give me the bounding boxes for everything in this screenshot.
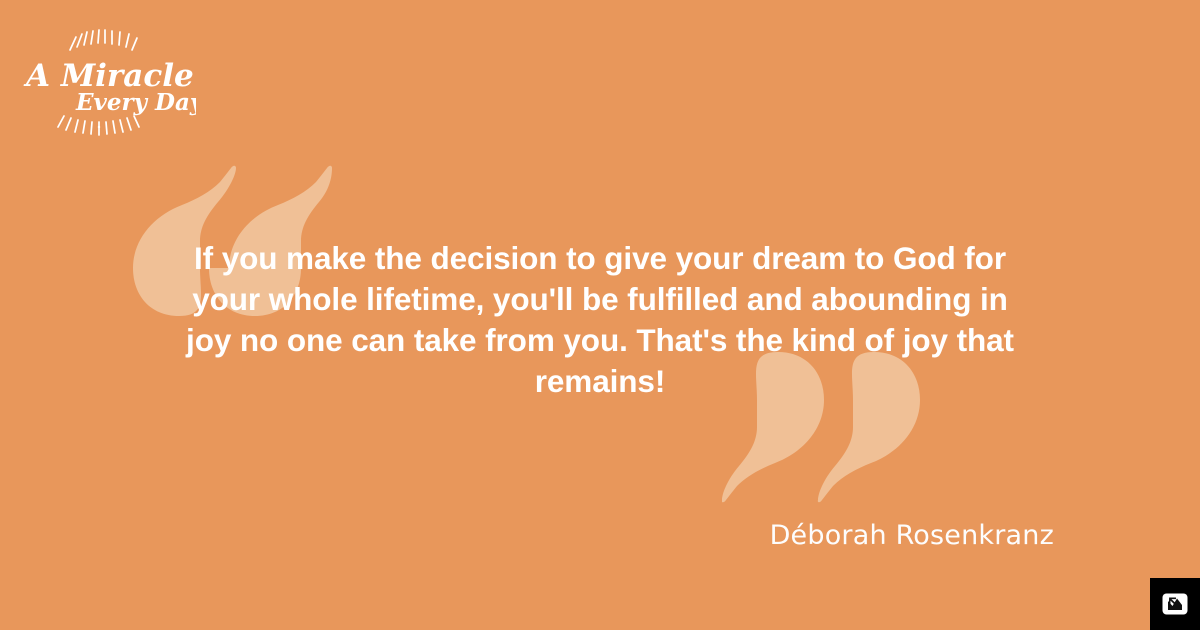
watermark-badge[interactable]	[1150, 578, 1200, 630]
quote-author: Déborah Rosenkranz	[770, 519, 1054, 553]
quote-text: If you make the decision to give your dr…	[170, 238, 1030, 402]
sunburst-rays-top	[70, 30, 137, 50]
sunburst-rays-bottom	[58, 116, 139, 135]
zigzag-arrows-icon	[1162, 593, 1188, 615]
brand-line-2: Every Day	[75, 89, 196, 116]
quote-card: A Miracle Every Day If you make the deci…	[0, 0, 1200, 630]
brand-logo[interactable]: A Miracle Every Day	[16, 28, 196, 138]
